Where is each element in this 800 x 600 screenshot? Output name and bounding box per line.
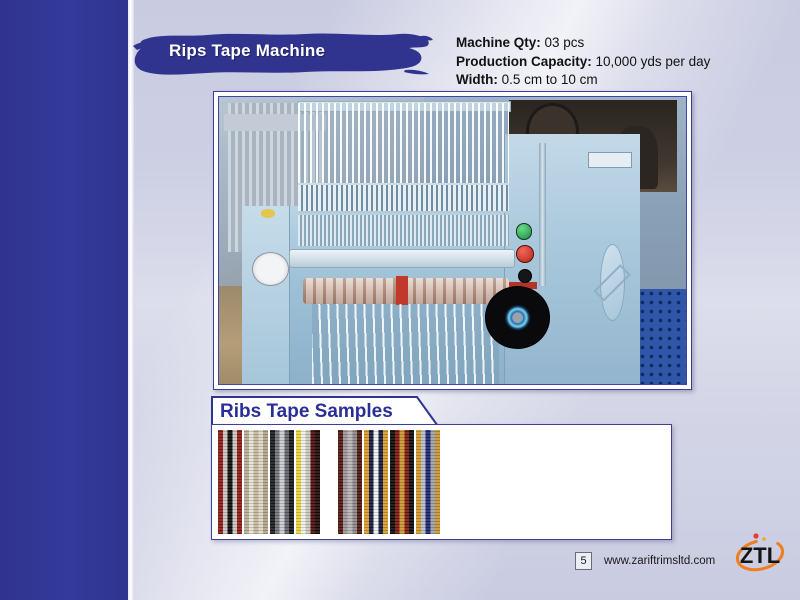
- photo-round-access-plate: [600, 244, 625, 321]
- spec-row-machine-qty: Machine Qty: 03 pcs: [456, 34, 786, 53]
- spec-label-width: Width:: [456, 72, 498, 87]
- left-sidebar-band: [0, 0, 128, 600]
- ztl-dot-orange: [762, 537, 766, 541]
- sample-swatch-black-gold-red-chevron: [390, 430, 414, 534]
- ztl-logo-text: ZTL: [740, 543, 780, 568]
- samples-frame: [211, 424, 672, 540]
- spec-label-production-capacity: Production Capacity:: [456, 54, 592, 69]
- samples-row: [218, 430, 665, 534]
- ztl-logo: ZTL: [733, 530, 787, 576]
- sample-swatch-yellow-white-darkred: [296, 430, 320, 534]
- photo-round-gauge: [252, 252, 289, 286]
- spec-row-width: Width: 0.5 cm to 10 cm: [456, 71, 786, 90]
- page-title: Rips Tape Machine: [169, 41, 419, 61]
- sample-group-right: [338, 430, 442, 534]
- photo-name-plate: [588, 152, 632, 168]
- photo-spool-hub: [504, 304, 532, 331]
- title-banner: Rips Tape Machine: [133, 28, 433, 80]
- photo-red-stop-button: [516, 245, 535, 263]
- spec-value-machine-qty: 03 pcs: [545, 35, 585, 50]
- machine-photo-frame: [213, 91, 692, 390]
- photo-black-spool: [485, 286, 550, 348]
- photo-cross-beam: [289, 249, 515, 268]
- sample-swatch-beige-zigzag-weave: [244, 430, 268, 534]
- photo-vertical-rod: [539, 143, 546, 287]
- sample-group-divider: [322, 430, 338, 534]
- sample-swatch-maroon-grey-blend: [338, 430, 362, 534]
- sidebar-edge-highlight: [128, 0, 134, 600]
- page-number: 5: [575, 552, 592, 570]
- sample-swatch-gold-grey-navy-stripe: [416, 430, 440, 534]
- ztl-dot-red: [753, 533, 758, 538]
- sample-group-left: [218, 430, 322, 534]
- sample-swatch-red-white-black-stripe: [218, 430, 242, 534]
- photo-woven-tapes: [312, 304, 499, 384]
- samples-title: Ribs Tape Samples: [220, 401, 393, 423]
- photo-yellow-cap: [261, 209, 275, 218]
- slide: Rips Tape Machine Machine Qty: 03 pcs Pr…: [0, 0, 800, 600]
- photo-warp-threads: [298, 103, 508, 189]
- footer: 5 www.zariftrimsltd.com: [575, 551, 715, 571]
- machine-photo: [218, 96, 687, 385]
- spec-value-production-capacity: 10,000 yds per day: [596, 54, 711, 69]
- photo-heddle-frame: [298, 183, 508, 213]
- photo-reed-assembly: [298, 215, 508, 247]
- sample-swatch-navy-gold-white-stripe: [364, 430, 388, 534]
- photo-red-marker: [396, 276, 408, 305]
- photo-machine-left-column: [242, 206, 290, 384]
- sample-swatch-grey-black-mesh: [270, 430, 294, 534]
- website-url: www.zariftrimsltd.com: [604, 555, 715, 567]
- spec-label-machine-qty: Machine Qty:: [456, 35, 541, 50]
- ztl-logo-mark: ZTL: [733, 530, 787, 576]
- spec-row-production-capacity: Production Capacity: 10,000 yds per day: [456, 53, 786, 72]
- photo-green-start-button: [516, 223, 533, 239]
- spec-list: Machine Qty: 03 pcs Production Capacity:…: [456, 34, 786, 90]
- photo-diamond-emboss: [593, 264, 631, 302]
- spec-value-width: 0.5 cm to 10 cm: [502, 72, 598, 87]
